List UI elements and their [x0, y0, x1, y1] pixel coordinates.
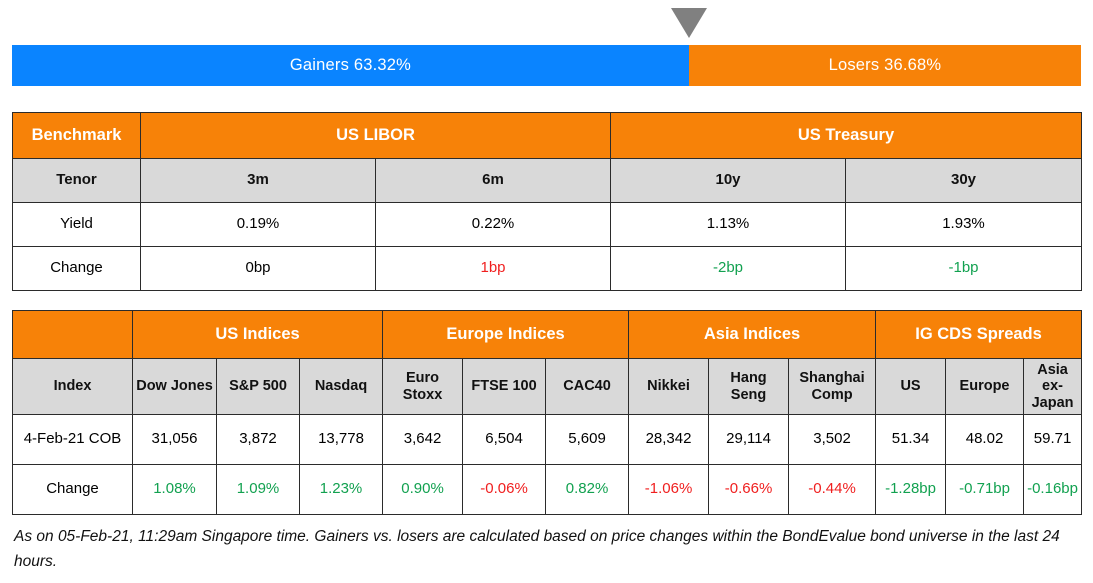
- sentiment-bar-container: Gainers 63.32% Losers 36.68%: [12, 8, 1081, 86]
- change-10y: -2bp: [611, 247, 846, 291]
- value-cds-us: 51.34: [876, 415, 946, 465]
- footnote-text: As on 05-Feb-21, 11:29am Singapore time.…: [14, 524, 1076, 574]
- change-dow-jones: 1.08%: [133, 465, 217, 515]
- group-header-us-indices: US Indices: [133, 311, 383, 359]
- column-cds-asia-ex-japan: Asia ex-Japan: [1024, 359, 1082, 415]
- column-cac40: CAC40: [546, 359, 629, 415]
- indices-value-row: 4-Feb-21 COB 31,056 3,872 13,778 3,642 6…: [13, 415, 1082, 465]
- change-euro-stoxx: 0.90%: [383, 465, 463, 515]
- tenor-6m: 6m: [376, 159, 611, 203]
- change-nikkei: -1.06%: [629, 465, 709, 515]
- indices-group-header-row: US Indices Europe Indices Asia Indices I…: [13, 311, 1082, 359]
- losers-label: Losers 36.68%: [829, 56, 942, 75]
- change-3m: 0bp: [141, 247, 376, 291]
- tenor-10y: 10y: [611, 159, 846, 203]
- tenor-30y: 30y: [846, 159, 1082, 203]
- column-cds-europe: Europe: [946, 359, 1024, 415]
- benchmark-group-header-row: Benchmark US LIBOR US Treasury: [13, 113, 1082, 159]
- market-indices-table: US Indices Europe Indices Asia Indices I…: [12, 310, 1082, 515]
- indices-corner-label: [13, 311, 133, 359]
- change-shanghai-comp: -0.44%: [789, 465, 876, 515]
- yield-3m: 0.19%: [141, 203, 376, 247]
- change-cds-us: -1.28bp: [876, 465, 946, 515]
- benchmark-rates-table: Benchmark US LIBOR US Treasury Tenor 3m …: [12, 112, 1082, 291]
- value-shanghai-comp: 3,502: [789, 415, 876, 465]
- index-row-label: Index: [13, 359, 133, 415]
- group-header-asia-indices: Asia Indices: [629, 311, 876, 359]
- value-sp-500: 3,872: [217, 415, 300, 465]
- column-cds-us: US: [876, 359, 946, 415]
- value-nasdaq: 13,778: [300, 415, 383, 465]
- yield-30y: 1.93%: [846, 203, 1082, 247]
- yield-6m: 0.22%: [376, 203, 611, 247]
- change-cds-europe: -0.71bp: [946, 465, 1024, 515]
- value-euro-stoxx: 3,642: [383, 415, 463, 465]
- value-dow-jones: 31,056: [133, 415, 217, 465]
- value-nikkei: 28,342: [629, 415, 709, 465]
- indices-date-row-label: 4-Feb-21 COB: [13, 415, 133, 465]
- column-nasdaq: Nasdaq: [300, 359, 383, 415]
- yield-row: Yield 0.19% 0.22% 1.13% 1.93%: [13, 203, 1082, 247]
- column-shanghai-comp: Shanghai Comp: [789, 359, 876, 415]
- column-sp-500: S&P 500: [217, 359, 300, 415]
- value-ftse-100: 6,504: [463, 415, 546, 465]
- yield-10y: 1.13%: [611, 203, 846, 247]
- change-6m: 1bp: [376, 247, 611, 291]
- value-cds-europe: 48.02: [946, 415, 1024, 465]
- gainers-segment[interactable]: Gainers 63.32%: [12, 45, 689, 86]
- tenor-row: Tenor 3m 6m 10y 30y: [13, 159, 1082, 203]
- gainers-losers-bar: Gainers 63.32% Losers 36.68%: [12, 45, 1081, 86]
- column-nikkei: Nikkei: [629, 359, 709, 415]
- indices-column-header-row: Index Dow Jones S&P 500 Nasdaq Euro Stox…: [13, 359, 1082, 415]
- change-ftse-100: -0.06%: [463, 465, 546, 515]
- change-30y: -1bp: [846, 247, 1082, 291]
- benchmark-corner-label: Benchmark: [13, 113, 141, 159]
- value-hang-seng: 29,114: [709, 415, 789, 465]
- column-ftse-100: FTSE 100: [463, 359, 546, 415]
- change-nasdaq: 1.23%: [300, 465, 383, 515]
- indices-change-row: Change 1.08% 1.09% 1.23% 0.90% -0.06% 0.…: [13, 465, 1082, 515]
- yield-row-label: Yield: [13, 203, 141, 247]
- tenor-3m: 3m: [141, 159, 376, 203]
- gainers-label: Gainers 63.32%: [290, 56, 411, 75]
- group-header-europe-indices: Europe Indices: [383, 311, 629, 359]
- benchmark-change-row: Change 0bp 1bp -2bp -1bp: [13, 247, 1082, 291]
- value-cds-asia-ex-japan: 59.71: [1024, 415, 1082, 465]
- column-dow-jones: Dow Jones: [133, 359, 217, 415]
- change-cac40: 0.82%: [546, 465, 629, 515]
- group-header-ig-cds-spreads: IG CDS Spreads: [876, 311, 1082, 359]
- change-hang-seng: -0.66%: [709, 465, 789, 515]
- column-euro-stoxx: Euro Stoxx: [383, 359, 463, 415]
- group-header-us-treasury: US Treasury: [611, 113, 1082, 159]
- column-hang-seng: Hang Seng: [709, 359, 789, 415]
- benchmark-change-row-label: Change: [13, 247, 141, 291]
- tenor-row-label: Tenor: [13, 159, 141, 203]
- group-header-us-libor: US LIBOR: [141, 113, 611, 159]
- value-cac40: 5,609: [546, 415, 629, 465]
- losers-segment[interactable]: Losers 36.68%: [689, 45, 1081, 86]
- change-sp-500: 1.09%: [217, 465, 300, 515]
- change-cds-asia-ex-japan: -0.16bp: [1024, 465, 1082, 515]
- indices-change-row-label: Change: [13, 465, 133, 515]
- down-triangle-marker-icon: [671, 8, 707, 38]
